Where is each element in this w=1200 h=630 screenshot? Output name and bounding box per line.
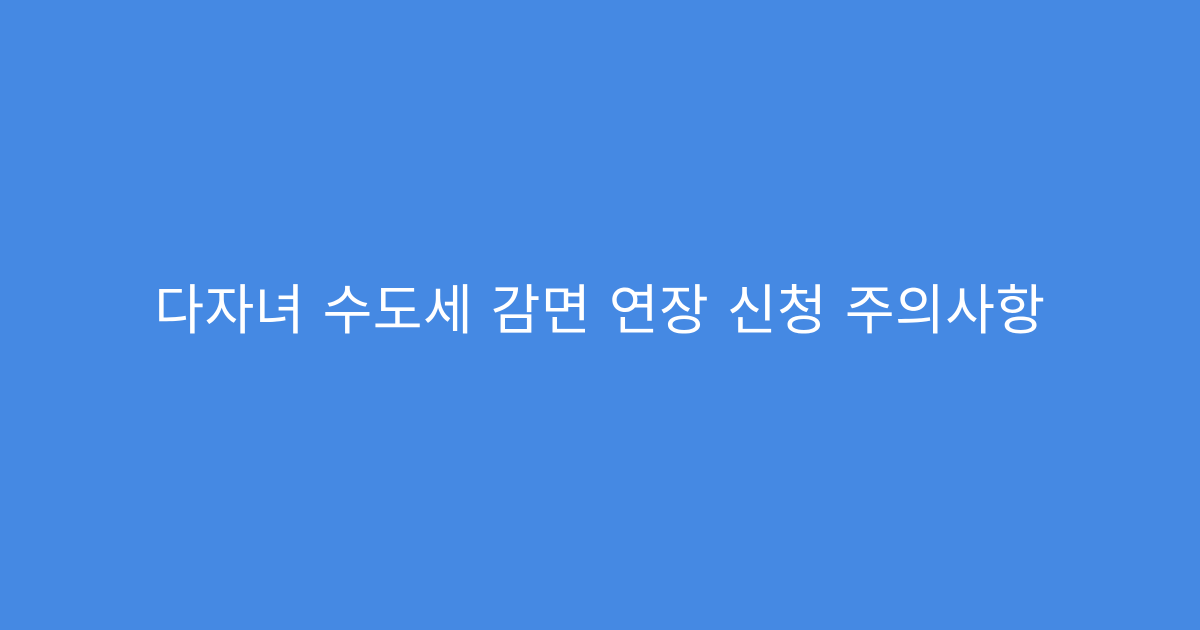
headline-container: 다자녀 수도세 감면 연장 신청 주의사항 [50, 279, 1150, 343]
card-headline: 다자녀 수도세 감면 연장 신청 주의사항 [154, 279, 1045, 343]
social-share-card: 다자녀 수도세 감면 연장 신청 주의사항 [0, 0, 1200, 630]
